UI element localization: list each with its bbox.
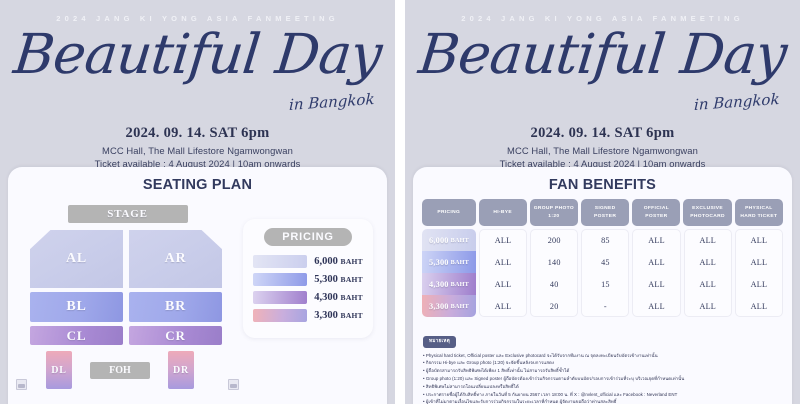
seat-block-dr[interactable]: DR bbox=[168, 351, 194, 389]
table-column-signed-poster: 85 45 15 - bbox=[581, 229, 629, 317]
table-row: 4,300BAHT bbox=[422, 273, 476, 295]
note-item: ประกาศรายชื่อผู้ได้รับสิทธิ์ทาง ภายในวัน… bbox=[423, 391, 784, 399]
seat-block-al[interactable]: AL bbox=[30, 230, 123, 288]
table-header-exclusive-photocard: EXCLUSIVE PHOTOCARD bbox=[683, 199, 731, 226]
tier-d: DL FOH DR bbox=[30, 350, 225, 390]
table-cell: ALL bbox=[735, 295, 783, 317]
table-body: 6,000BAHT 5,300BAHT 4,300BAHT 3,300BAHT … bbox=[422, 229, 783, 317]
table-cell: ALL bbox=[632, 229, 680, 251]
title-location: in Bangkok bbox=[289, 90, 375, 114]
stage-screen-icon bbox=[16, 379, 27, 390]
table-column-group-photo: 200 140 40 20 bbox=[530, 229, 578, 317]
stage-block: STAGE bbox=[68, 205, 188, 223]
seating-plan-poster: 2024 JANG KI YONG ASIA FANMEETING Beauti… bbox=[0, 0, 395, 404]
event-kicker: 2024 JANG KI YONG ASIA FANMEETING bbox=[405, 0, 800, 23]
price-swatch-3300 bbox=[253, 309, 307, 322]
price-tier-row[interactable]: 6,000 BAHT bbox=[253, 255, 363, 268]
table-header-row: PRICING HI-BYE GROUP PHOTO 1:20 SIGNED P… bbox=[422, 199, 783, 226]
table-cell: ALL bbox=[632, 251, 680, 273]
table-cell: ALL bbox=[735, 251, 783, 273]
note-item: สิทธิพิเศษไม่สามารถโอนเปลี่ยนแปลงหรือสิท… bbox=[423, 383, 784, 391]
event-venue: MCC Hall, The Mall Lifestore Ngamwongwan bbox=[0, 145, 395, 156]
table-header-hi-bye: HI-BYE bbox=[479, 199, 527, 226]
note-item: Group photo (1:20) และ Signed poster ผู้… bbox=[423, 375, 784, 383]
table-cell: ALL bbox=[479, 295, 527, 317]
table-cell: ALL bbox=[684, 251, 732, 273]
table-cell: - bbox=[581, 295, 629, 317]
table-cell: 45 bbox=[581, 251, 629, 273]
table-cell: ALL bbox=[684, 273, 732, 295]
page-title: Beautiful Day bbox=[405, 27, 800, 82]
price-tier-row[interactable]: 4,300 BAHT bbox=[253, 291, 363, 304]
event-kicker: 2024 JANG KI YONG ASIA FANMEETING bbox=[0, 0, 395, 23]
price-tier-row[interactable]: 3,300 BAHT bbox=[253, 309, 363, 322]
poster-title-block: Beautiful Day in Bangkok bbox=[405, 25, 800, 121]
event-venue: MCC Hall, The Mall Lifestore Ngamwongwan bbox=[405, 145, 800, 156]
table-header-signed-poster: SIGNED POSTER bbox=[581, 199, 629, 226]
price-swatch-6000 bbox=[253, 255, 307, 268]
notes-badge: หมายเหตุ bbox=[423, 336, 456, 348]
table-cell: 85 bbox=[581, 229, 629, 251]
event-date: 2024. 09. 14. SAT 6pm bbox=[0, 125, 395, 142]
seat-block-cr[interactable]: CR bbox=[129, 326, 222, 345]
seat-block-bl[interactable]: BL bbox=[30, 292, 123, 322]
fan-benefits-poster: 2024 JANG KI YONG ASIA FANMEETING Beauti… bbox=[405, 0, 800, 404]
table-column-hi-bye: ALL ALL ALL ALL bbox=[479, 229, 527, 317]
table-row: 5,300BAHT bbox=[422, 251, 476, 273]
price-label-4300: 4,300 BAHT bbox=[314, 292, 363, 303]
tier-b: BL BR bbox=[30, 292, 225, 322]
fan-benefits-card: FAN BENEFITS PRICING HI-BYE GROUP PHOTO … bbox=[413, 167, 792, 404]
price-tier-row[interactable]: 5,300 BAHT bbox=[253, 273, 363, 286]
price-label-5300: 5,300 BAHT bbox=[314, 274, 363, 285]
event-meta: 2024. 09. 14. SAT 6pm MCC Hall, The Mall… bbox=[0, 125, 395, 169]
note-item: Physical hard ticket, Official poster แล… bbox=[423, 352, 784, 360]
table-column-physical-hard-ticket: ALL ALL ALL ALL bbox=[735, 229, 783, 317]
page-title: Beautiful Day bbox=[0, 27, 395, 82]
table-cell: ALL bbox=[479, 251, 527, 273]
table-cell: ALL bbox=[735, 273, 783, 295]
fan-benefits-title: FAN BENEFITS bbox=[413, 167, 792, 193]
seat-block-dl[interactable]: DL bbox=[46, 351, 72, 389]
table-column-official-poster: ALL ALL ALL ALL bbox=[632, 229, 680, 317]
table-header-pricing: PRICING bbox=[422, 199, 476, 226]
price-label-3300: 3,300 BAHT bbox=[314, 310, 363, 321]
note-item: กิจกรรม Hi-bye และ Group photo (1:20) จะ… bbox=[423, 359, 784, 367]
event-date: 2024. 09. 14. SAT 6pm bbox=[405, 125, 800, 142]
table-cell: ALL bbox=[479, 273, 527, 295]
table-header-group-photo: GROUP PHOTO 1:20 bbox=[530, 199, 578, 226]
notes-list: Physical hard ticket, Official poster แล… bbox=[423, 352, 784, 404]
table-cell: 40 bbox=[530, 273, 578, 295]
note-item: ผู้ถือบัตรสามารถรับสิทธิพิเศษได้เพียง 1 … bbox=[423, 367, 784, 375]
table-cell: ALL bbox=[632, 273, 680, 295]
notes-section: หมายเหตุ Physical hard ticket, Official … bbox=[423, 329, 784, 404]
pricing-pill-label: PRICING bbox=[264, 228, 352, 246]
benefits-table: PRICING HI-BYE GROUP PHOTO 1:20 SIGNED P… bbox=[422, 199, 783, 317]
title-location: in Bangkok bbox=[694, 90, 780, 114]
table-cell: 15 bbox=[581, 273, 629, 295]
event-meta: 2024. 09. 14. SAT 6pm MCC Hall, The Mall… bbox=[405, 125, 800, 169]
table-column-exclusive-photocard: ALL ALL ALL ALL bbox=[684, 229, 732, 317]
poster-title-block: Beautiful Day in Bangkok bbox=[0, 25, 395, 121]
tier-a: AL AR bbox=[30, 230, 225, 288]
seat-block-br[interactable]: BR bbox=[129, 292, 222, 322]
pricing-legend: PRICING 6,000 BAHT 5,300 BAHT 4,300 BAHT… bbox=[243, 219, 373, 338]
price-swatch-4300 bbox=[253, 291, 307, 304]
price-label-6000: 6,000 BAHT bbox=[314, 256, 363, 267]
table-cell: ALL bbox=[684, 229, 732, 251]
foh-block: FOH bbox=[90, 362, 150, 379]
seating-map: STAGE AL AR BL BR CL CR DL FOH D bbox=[30, 205, 225, 390]
seat-block-cl[interactable]: CL bbox=[30, 326, 123, 345]
table-cell: 140 bbox=[530, 251, 578, 273]
poster-pair: 2024 JANG KI YONG ASIA FANMEETING Beauti… bbox=[0, 0, 800, 404]
stage-screen-icon bbox=[228, 379, 239, 390]
note-item: ผู้เข้าที่ไม่มาตามเงื่อนไขและรับการร่วมก… bbox=[423, 398, 784, 404]
table-cell: ALL bbox=[684, 295, 732, 317]
tier-c: CL CR bbox=[30, 326, 225, 345]
table-cell: 200 bbox=[530, 229, 578, 251]
price-swatch-5300 bbox=[253, 273, 307, 286]
seat-block-ar[interactable]: AR bbox=[129, 230, 222, 288]
seating-plan-card: SEATING PLAN STAGE AL AR BL BR CL CR bbox=[8, 167, 387, 404]
table-row: 3,300BAHT bbox=[422, 295, 476, 317]
table-cell: ALL bbox=[735, 229, 783, 251]
table-column-pricing: 6,000BAHT 5,300BAHT 4,300BAHT 3,300BAHT bbox=[422, 229, 476, 317]
table-cell: 20 bbox=[530, 295, 578, 317]
table-row: 6,000BAHT bbox=[422, 229, 476, 251]
table-header-official-poster: OFFICIAL POSTER bbox=[632, 199, 680, 226]
table-cell: ALL bbox=[632, 295, 680, 317]
table-header-physical-hard-ticket: PHYSICAL HARD TICKET bbox=[735, 199, 783, 226]
seating-plan-title: SEATING PLAN bbox=[8, 167, 387, 193]
table-cell: ALL bbox=[479, 229, 527, 251]
